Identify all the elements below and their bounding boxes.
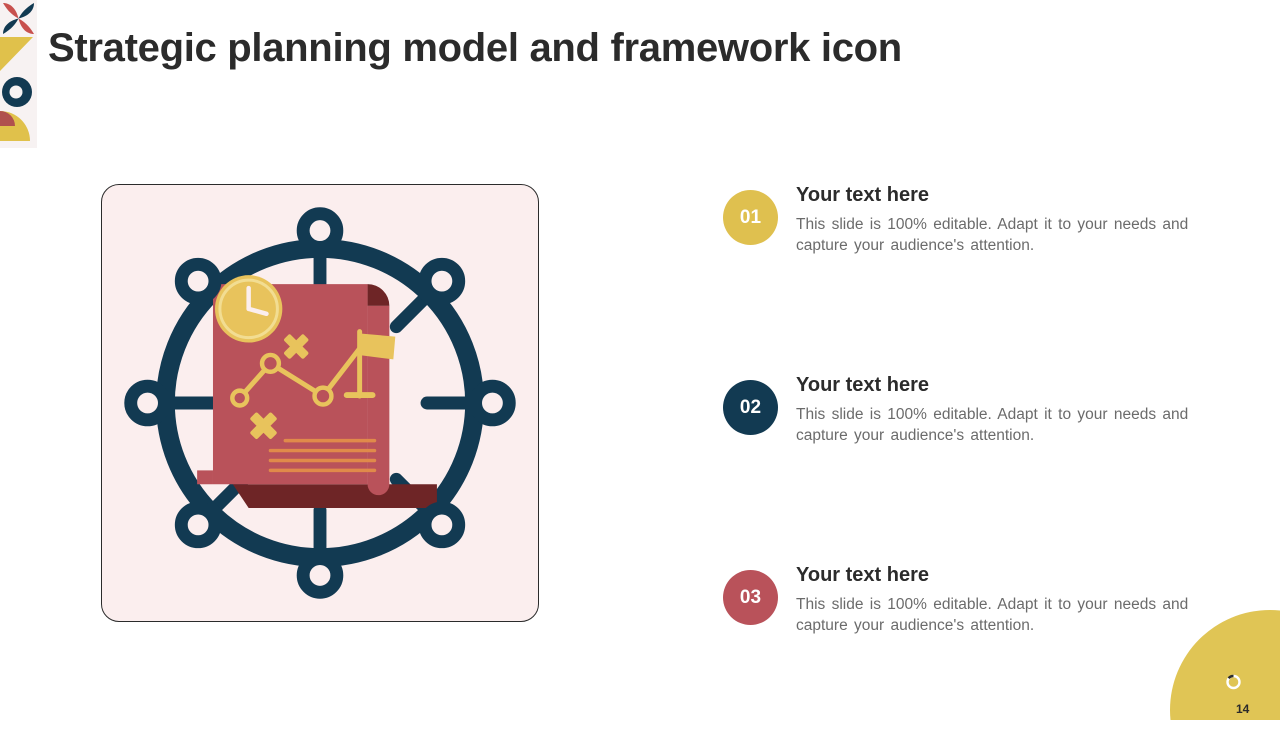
node-top-left	[181, 264, 215, 298]
node-bottom	[303, 559, 337, 593]
scroll-top-curl	[368, 284, 390, 306]
item-badge-01: 01	[723, 190, 778, 245]
item-text: This slide is 100% editable. Adapt it to…	[796, 404, 1196, 446]
node-right	[476, 386, 510, 420]
list-item: 01 Your text here This slide is 100% edi…	[723, 182, 1203, 372]
brand-logo	[0, 0, 37, 148]
node-top-right	[425, 264, 459, 298]
item-body: Your text here This slide is 100% editab…	[796, 372, 1196, 446]
scroll-right-roll	[368, 306, 390, 495]
strategic-planning-framework-icon	[102, 185, 538, 621]
circle-ring-tile	[0, 74, 37, 111]
item-number: 02	[740, 397, 761, 419]
scroll-bottom-shadow	[233, 484, 437, 508]
ring-accent-icon	[1225, 673, 1242, 690]
node-bottom-left	[181, 508, 215, 542]
diagonal-triangle-tile	[0, 37, 37, 74]
scroll-left-flap	[197, 470, 213, 484]
list-item: 03 Your text here This slide is 100% edi…	[723, 562, 1203, 752]
four-petal-flower-icon	[0, 0, 37, 37]
circle-ring-icon	[0, 74, 37, 111]
page-number: 14	[1236, 702, 1249, 716]
item-body: Your text here This slide is 100% editab…	[796, 562, 1196, 636]
item-heading: Your text here	[796, 562, 1196, 588]
item-text: This slide is 100% editable. Adapt it to…	[796, 594, 1196, 636]
list-item: 02 Your text here This slide is 100% edi…	[723, 372, 1203, 562]
item-body: Your text here This slide is 100% editab…	[796, 182, 1196, 256]
diagonal-triangle-icon	[0, 37, 37, 74]
item-heading: Your text here	[796, 372, 1196, 398]
four-petal-flower-tile	[0, 0, 37, 37]
illustration-card	[101, 184, 539, 622]
quarter-circle-shape	[1170, 610, 1280, 720]
page-title: Strategic planning model and framework i…	[48, 20, 1148, 76]
quarter-arcs-icon	[0, 111, 37, 148]
node-bottom-right	[425, 508, 459, 542]
item-number: 01	[740, 207, 761, 229]
node-top	[303, 214, 337, 248]
content-list: 01 Your text here This slide is 100% edi…	[723, 182, 1203, 752]
item-number: 03	[740, 587, 761, 609]
quarter-arcs-tile	[0, 111, 37, 148]
item-heading: Your text here	[796, 182, 1196, 208]
node-left	[131, 386, 165, 420]
corner-decoration: 14	[1170, 610, 1280, 720]
item-text: This slide is 100% editable. Adapt it to…	[796, 214, 1196, 256]
item-badge-02: 02	[723, 380, 778, 435]
item-badge-03: 03	[723, 570, 778, 625]
clock-icon	[215, 275, 282, 342]
